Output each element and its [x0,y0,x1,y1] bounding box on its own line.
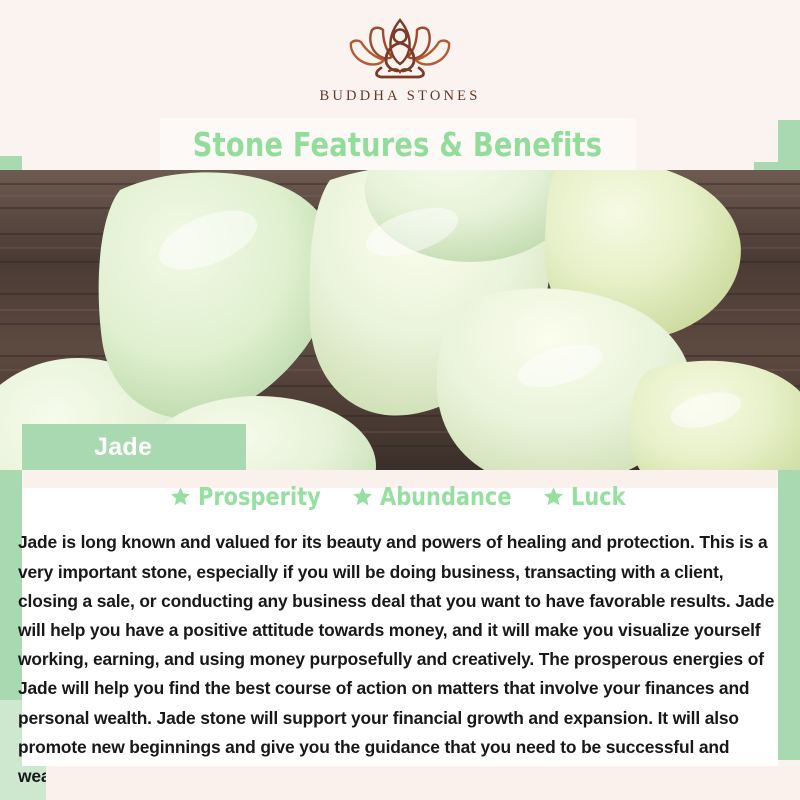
footer-strip [46,766,800,800]
benefit-label: Prosperity [198,482,321,511]
benefit-label: Luck [571,482,626,511]
benefit-label: Abundance [380,482,512,511]
stone-description: Jade is long known and valued for its be… [18,528,786,791]
star-icon [170,486,191,507]
benefit-item: Prosperity [170,482,330,511]
benefit-item: Luck [543,482,630,511]
brand-wordmark: BUDDHA STONES [320,88,481,105]
stone-name: Jade [94,433,152,462]
page-title: Stone Features & Benefits [193,128,602,161]
title-banner: Stone Features & Benefits [160,118,636,170]
brand-logo: BUDDHA STONES [0,14,800,118]
benefit-item: Abundance [352,482,521,511]
benefits-row: Prosperity Abundance Luck [0,478,800,514]
star-icon [543,486,564,507]
stone-info-poster: BUDDHA STONES Stone Features & Benefits [0,0,800,800]
stone-name-band: Jade [22,424,246,470]
star-icon [352,486,373,507]
lotus-meditation-icon [325,14,475,86]
